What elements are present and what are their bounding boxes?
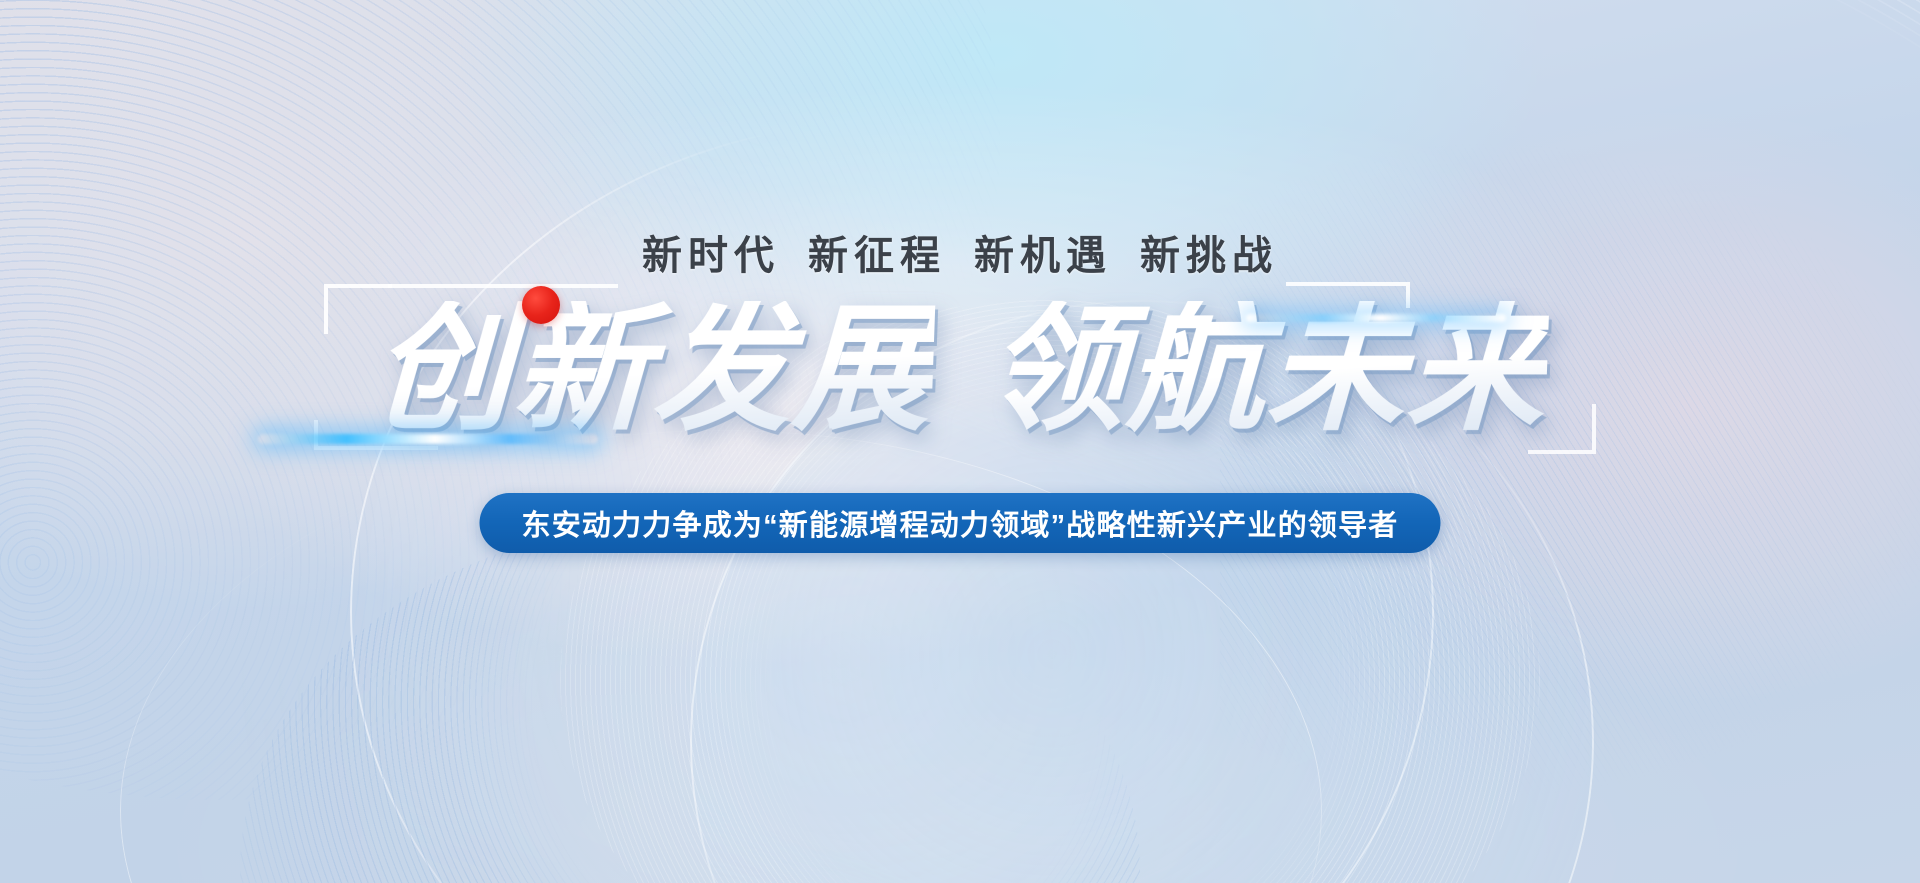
slogan-pill-text: 东安动力力争成为“新能源增程动力领域”战略性新兴产业的领导者 — [521, 502, 1398, 544]
kicker-segment-3: 新机遇 — [974, 234, 1112, 278]
banner-content: 新时代新征程新机遇新挑战 创新发展 领航未来 东安动力力争成为“新能源增程动力领… — [0, 0, 1920, 883]
headline-block: 创新发展 领航未来 — [300, 280, 1620, 460]
kicker-segment-1: 新时代 — [642, 234, 780, 278]
kicker-segment-2: 新征程 — [808, 234, 946, 278]
banner-headline: 创新发展 领航未来 — [300, 280, 1620, 460]
headline-phrase-left: 创新发展 — [371, 301, 936, 439]
kicker-segment-4: 新挑战 — [1140, 234, 1278, 278]
slogan-pill: 东安动力力争成为“新能源增程动力领域”战略性新兴产业的领导者 — [479, 493, 1440, 553]
red-dot-accent-icon — [522, 286, 560, 324]
light-streak-right-icon — [1246, 314, 1506, 322]
light-streak-left-icon — [258, 434, 598, 444]
promo-banner: 新时代新征程新机遇新挑战 创新发展 领航未来 东安动力力争成为“新能源增程动力领… — [0, 0, 1920, 883]
banner-kicker: 新时代新征程新机遇新挑战 — [0, 223, 1920, 281]
